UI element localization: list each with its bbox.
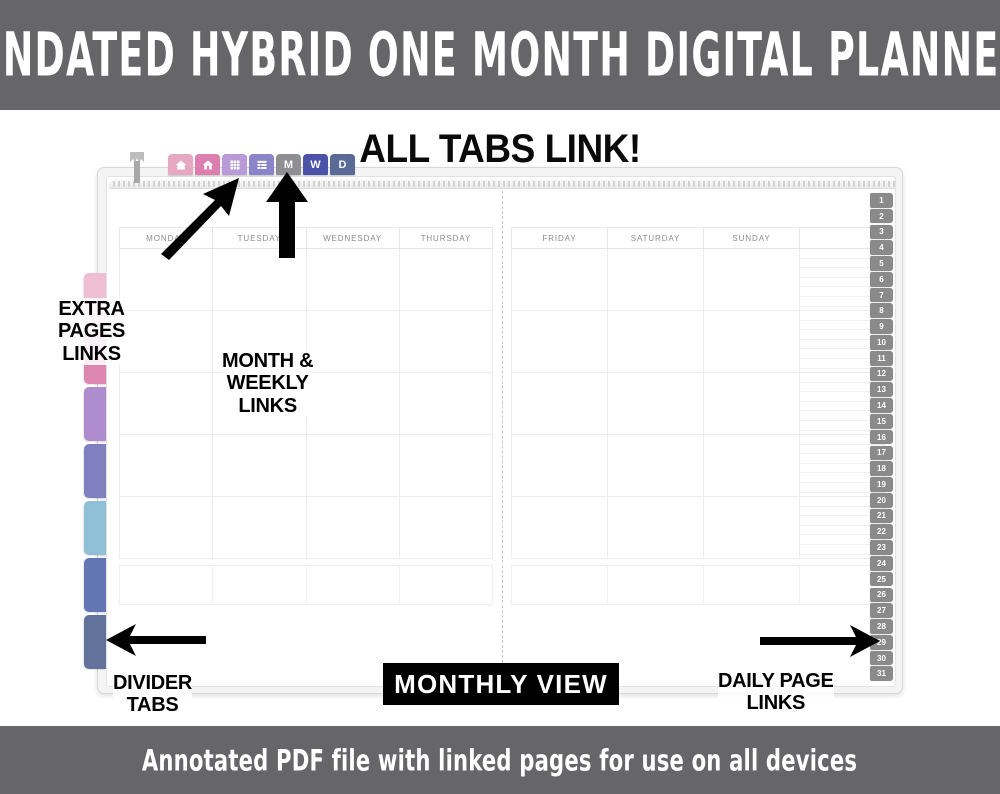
day-tab-17[interactable]: 17 xyxy=(870,446,893,461)
day-tab-26[interactable]: 26 xyxy=(870,588,893,603)
binding-notch xyxy=(323,181,325,187)
binding-notch xyxy=(123,181,125,187)
divider-tab-3[interactable] xyxy=(84,387,106,441)
anno-line: DAILY PAGE xyxy=(718,670,834,692)
binding-notch xyxy=(728,181,730,187)
annotation-daily-page-links: DAILY PAGE LINKS xyxy=(718,670,834,715)
binding-notch xyxy=(418,181,420,187)
calendar-day-cell[interactable] xyxy=(399,373,493,435)
bottom-cell[interactable] xyxy=(212,565,305,605)
binding-notch xyxy=(538,181,540,187)
day-tab-13[interactable]: 13 xyxy=(870,382,893,397)
binding-notch xyxy=(618,181,620,187)
binding-notch xyxy=(343,181,345,187)
binding-notch xyxy=(548,181,550,187)
day-tab-4[interactable]: 4 xyxy=(870,240,893,255)
calendar-day-cell[interactable] xyxy=(119,311,212,373)
calendar-week-row xyxy=(511,249,885,311)
binding-notch xyxy=(608,181,610,187)
binding-notch xyxy=(668,181,670,187)
calendar-week-row xyxy=(511,311,885,373)
anno-line: EXTRA xyxy=(58,298,125,320)
binding-notch xyxy=(518,181,520,187)
headline-all-tabs-link: ALL TABS LINK! xyxy=(0,126,1000,171)
day-tab-18[interactable]: 18 xyxy=(870,461,893,476)
binding-notch xyxy=(433,181,435,187)
binding-notch xyxy=(748,181,750,187)
day-tab-20[interactable]: 20 xyxy=(870,493,893,508)
weekday-header-friday: FRIDAY xyxy=(511,227,607,249)
binding-notch xyxy=(348,181,350,187)
binding-notch xyxy=(718,181,720,187)
calendar-day-cell[interactable] xyxy=(607,311,703,373)
binding-notch xyxy=(693,181,695,187)
binding-notch xyxy=(858,181,860,187)
anno-line: TABS xyxy=(113,694,192,716)
binding-notch xyxy=(818,181,820,187)
binding-notch xyxy=(833,181,835,187)
weekday-header-sunday: SUNDAY xyxy=(703,227,799,249)
binding-notch xyxy=(733,181,735,187)
day-tab-1[interactable]: 1 xyxy=(870,193,893,208)
binding-notch xyxy=(578,181,580,187)
top-tab-home-alt[interactable] xyxy=(195,154,220,175)
monthly-view-label: MONTHLY VIEW xyxy=(394,669,608,700)
calendar-week-row xyxy=(511,435,885,497)
binding-notch xyxy=(648,181,650,187)
monthly-view-badge: MONTHLY VIEW xyxy=(383,663,619,705)
binding-notch xyxy=(573,181,575,187)
binding-notch xyxy=(148,181,150,187)
calendar-day-cell[interactable] xyxy=(119,497,212,559)
day-tab-24[interactable]: 24 xyxy=(870,556,893,571)
main-content-area: ALL TABS LINK! xyxy=(0,110,1000,726)
binding-notch xyxy=(828,181,830,187)
day-tab-3[interactable]: 3 xyxy=(870,225,893,240)
day-tab-15[interactable]: 15 xyxy=(870,414,893,429)
bottom-strip-left[interactable] xyxy=(119,565,493,605)
binding-notch xyxy=(583,181,585,187)
binding-notch xyxy=(678,181,680,187)
binding-notch xyxy=(763,181,765,187)
calendar-day-cell[interactable] xyxy=(607,435,703,497)
binding-notch xyxy=(553,181,555,187)
annotation-month-weekly-links: MONTH & WEEKLY LINKS xyxy=(222,350,313,417)
calendar-day-cell[interactable] xyxy=(306,311,399,373)
binding-notch xyxy=(783,181,785,187)
bookmark-clip-icon xyxy=(126,152,148,184)
day-tab-23[interactable]: 23 xyxy=(870,540,893,555)
binding-notch xyxy=(888,181,890,187)
binding-notch xyxy=(653,181,655,187)
anno-line: LINKS xyxy=(58,343,125,365)
divider-tab-6[interactable] xyxy=(84,558,106,612)
binding-notch xyxy=(613,181,615,187)
calendar-day-cell[interactable] xyxy=(306,249,399,311)
binding-notch xyxy=(473,181,475,187)
binding-notch xyxy=(788,181,790,187)
binding-notch xyxy=(698,181,700,187)
calendar-day-cell[interactable] xyxy=(511,249,607,311)
calendar-day-cell[interactable] xyxy=(511,435,607,497)
anno-line: PAGES xyxy=(58,320,125,342)
binding-notch xyxy=(398,181,400,187)
binding-notch xyxy=(738,181,740,187)
calendar-day-cell[interactable] xyxy=(607,373,703,435)
binding-notch xyxy=(393,181,395,187)
calendar-day-cell[interactable] xyxy=(703,373,799,435)
bottom-cell[interactable] xyxy=(607,565,703,605)
calendar-day-cell[interactable] xyxy=(306,497,399,559)
top-tab-row[interactable]: M W D xyxy=(168,154,355,176)
page-gutter xyxy=(493,191,511,678)
bottom-cell[interactable] xyxy=(119,565,212,605)
binding-notch xyxy=(313,181,315,187)
binding-notch xyxy=(868,181,870,187)
binding-notch xyxy=(438,181,440,187)
binding-notch xyxy=(453,181,455,187)
binding-notch xyxy=(673,181,675,187)
binding-notch xyxy=(778,181,780,187)
binding-notch xyxy=(633,181,635,187)
binding-notch xyxy=(593,181,595,187)
weekday-header-wednesday: WEDNESDAY xyxy=(306,227,399,249)
calendar-day-cell[interactable] xyxy=(607,249,703,311)
binding-notch xyxy=(703,181,705,187)
bottom-banner: Annotated PDF file with linked pages for… xyxy=(0,726,1000,794)
binding-notch xyxy=(768,181,770,187)
calendar-day-cell[interactable] xyxy=(607,497,703,559)
day-tab-27[interactable]: 27 xyxy=(870,603,893,618)
calendar-day-cell[interactable] xyxy=(511,373,607,435)
bottom-cell[interactable] xyxy=(306,565,399,605)
binding-notch xyxy=(873,181,875,187)
divider-tab-7[interactable] xyxy=(84,615,106,669)
binding-notch xyxy=(598,181,600,187)
binding-notch xyxy=(368,181,370,187)
binding-notch xyxy=(353,181,355,187)
binding-notch xyxy=(253,181,255,187)
weekday-header-saturday: SATURDAY xyxy=(607,227,703,249)
day-tab-5[interactable]: 5 xyxy=(870,256,893,271)
binding-notch xyxy=(358,181,360,187)
day-tab-10[interactable]: 10 xyxy=(870,335,893,350)
anno-line: LINKS xyxy=(222,395,313,417)
calendar-day-cell[interactable] xyxy=(511,311,607,373)
anno-line: LINKS xyxy=(718,692,834,714)
anno-line: WEEKLY xyxy=(222,372,313,394)
binding-notch xyxy=(493,181,495,187)
binding-notch xyxy=(568,181,570,187)
binding-notch xyxy=(463,181,465,187)
binding-notch xyxy=(798,181,800,187)
binding-notch xyxy=(428,181,430,187)
binding-notch xyxy=(688,181,690,187)
binding-notch xyxy=(503,181,505,187)
binding-notch xyxy=(533,181,535,187)
day-tab-11[interactable]: 11 xyxy=(870,351,893,366)
binding-notch xyxy=(758,181,760,187)
binding-notch xyxy=(333,181,335,187)
divider-tab-5[interactable] xyxy=(84,501,106,555)
binding-notch xyxy=(843,181,845,187)
binding-notch xyxy=(318,181,320,187)
arrow-month-weekly-icon xyxy=(264,172,310,258)
binding-notch xyxy=(753,181,755,187)
bottom-cell[interactable] xyxy=(703,565,799,605)
calendar-day-cell[interactable] xyxy=(212,435,305,497)
annotation-extra-pages-links: EXTRA PAGES LINKS xyxy=(58,298,125,365)
day-tab-6[interactable]: 6 xyxy=(870,272,893,287)
day-tab-19[interactable]: 19 xyxy=(870,477,893,492)
binding-notch xyxy=(258,181,260,187)
product-title: UNDATED HYBRID ONE MONTH DIGITAL PLANNER xyxy=(0,20,1000,90)
binding-notch xyxy=(478,181,480,187)
binding-notch xyxy=(808,181,810,187)
binding-notch xyxy=(683,181,685,187)
binding-notch xyxy=(603,181,605,187)
list-grid-icon xyxy=(256,159,268,171)
day-tab-8[interactable]: 8 xyxy=(870,303,893,318)
grid-icon xyxy=(229,159,241,171)
binding-notch xyxy=(408,181,410,187)
binding-notch xyxy=(378,181,380,187)
binding-notch xyxy=(363,181,365,187)
daily-page-tab-column[interactable]: 1234567891011121314151617181920212223242… xyxy=(870,193,893,682)
binding-notch xyxy=(513,181,515,187)
binding-notch xyxy=(423,181,425,187)
calendar-day-cell[interactable] xyxy=(399,497,493,559)
binding-notch xyxy=(248,181,250,187)
arrow-daily-page-icon xyxy=(760,623,880,659)
binding-notch xyxy=(458,181,460,187)
binding-notch xyxy=(863,181,865,187)
day-tab-2[interactable]: 2 xyxy=(870,209,893,224)
bottom-cell[interactable] xyxy=(399,565,493,605)
binding-notch xyxy=(448,181,450,187)
binding-notch xyxy=(373,181,375,187)
calendar-day-cell[interactable] xyxy=(703,311,799,373)
binding-notch xyxy=(563,181,565,187)
day-tab-16[interactable]: 16 xyxy=(870,430,893,445)
binding-notch xyxy=(543,181,545,187)
top-tab-day[interactable]: D xyxy=(330,154,355,175)
bottom-cell[interactable] xyxy=(511,565,607,605)
binding-notch xyxy=(743,181,745,187)
calendar-day-cell[interactable] xyxy=(511,497,607,559)
page-spread: MONDAYTUESDAYWEDNESDAYTHURSDAY F xyxy=(119,191,885,678)
binding-notch xyxy=(793,181,795,187)
anno-line: MONTH & xyxy=(222,350,313,372)
binding-notch xyxy=(118,181,120,187)
binding-notch xyxy=(723,181,725,187)
home-alt-icon xyxy=(202,159,214,171)
anno-line: DIVIDER xyxy=(113,672,192,694)
binding-notch xyxy=(853,181,855,187)
binding-notch xyxy=(403,181,405,187)
binding-notch xyxy=(848,181,850,187)
binding-notch xyxy=(558,181,560,187)
binding-notch xyxy=(838,181,840,187)
binding-notch xyxy=(488,181,490,187)
bottom-banner-caption: Annotated PDF file with linked pages for… xyxy=(142,743,857,777)
right-page: FRIDAYSATURDAYSUNDAY xyxy=(511,191,885,678)
day-tab-22[interactable]: 22 xyxy=(870,524,893,539)
left-page: MONDAYTUESDAYWEDNESDAYTHURSDAY xyxy=(119,191,493,678)
binding-notch xyxy=(638,181,640,187)
binding-notch xyxy=(483,181,485,187)
day-tab-21[interactable]: 21 xyxy=(870,509,893,524)
binding-notch xyxy=(468,181,470,187)
divider-tab-4[interactable] xyxy=(84,444,106,498)
binding-notch xyxy=(528,181,530,187)
binding-notch xyxy=(893,181,895,187)
weekday-header-right: FRIDAYSATURDAYSUNDAY xyxy=(511,227,885,249)
weekday-header-thursday: THURSDAY xyxy=(399,227,493,249)
letter-m-icon: M xyxy=(284,159,293,171)
day-tab-14[interactable]: 14 xyxy=(870,398,893,413)
calendar-day-cell[interactable] xyxy=(212,497,305,559)
calendar-week-row xyxy=(511,497,885,559)
binding-notch xyxy=(658,181,660,187)
calendar-day-cell[interactable] xyxy=(306,435,399,497)
letter-d-icon: D xyxy=(339,159,347,171)
binding-notch xyxy=(498,181,500,187)
binding-notch xyxy=(113,181,115,187)
binding-notch xyxy=(588,181,590,187)
calendar-week-row xyxy=(119,435,493,497)
binding-notch xyxy=(883,181,885,187)
day-tab-12[interactable]: 12 xyxy=(870,367,893,382)
binding-notch xyxy=(508,181,510,187)
screenshot-root: UNDATED HYBRID ONE MONTH DIGITAL PLANNER… xyxy=(0,0,1000,794)
binding-notch xyxy=(773,181,775,187)
calendar-day-cell[interactable] xyxy=(703,249,799,311)
binding-notch xyxy=(713,181,715,187)
binding-notch xyxy=(823,181,825,187)
binding-notch xyxy=(328,181,330,187)
bottom-strip-right[interactable] xyxy=(511,565,885,605)
binding-notch xyxy=(388,181,390,187)
calendar-day-cell[interactable] xyxy=(703,435,799,497)
binding-notch xyxy=(383,181,385,187)
day-tab-31[interactable]: 31 xyxy=(870,666,893,681)
top-banner: UNDATED HYBRID ONE MONTH DIGITAL PLANNER xyxy=(0,0,1000,110)
binding-notch xyxy=(663,181,665,187)
day-tab-25[interactable]: 25 xyxy=(870,572,893,587)
arrow-extra-pages-icon xyxy=(155,176,245,260)
binding-notch xyxy=(628,181,630,187)
day-tab-7[interactable]: 7 xyxy=(870,288,893,303)
binding-notch xyxy=(338,181,340,187)
binding-notch xyxy=(803,181,805,187)
binding-notch xyxy=(643,181,645,187)
calendar-day-cell[interactable] xyxy=(399,249,493,311)
calendar-day-cell[interactable] xyxy=(399,311,493,373)
binding-notch xyxy=(813,181,815,187)
binding-notch xyxy=(623,181,625,187)
calendar-day-cell[interactable] xyxy=(306,373,399,435)
calendar-day-cell[interactable] xyxy=(119,435,212,497)
top-tab-home[interactable] xyxy=(168,154,193,175)
arrow-divider-tabs-icon xyxy=(106,622,206,658)
top-tab-monthly-grid[interactable] xyxy=(222,154,247,175)
calendar-week-row xyxy=(119,497,493,559)
binding-notch xyxy=(878,181,880,187)
binding-notch xyxy=(413,181,415,187)
letter-w-icon: W xyxy=(310,159,320,171)
annotation-divider-tabs: DIVIDER TABS xyxy=(113,672,192,717)
calendar-day-cell[interactable] xyxy=(119,373,212,435)
binding-notch xyxy=(708,181,710,187)
binding-notch xyxy=(443,181,445,187)
calendar-body-right[interactable] xyxy=(511,249,885,559)
binding-notch xyxy=(523,181,525,187)
home-icon xyxy=(175,159,187,171)
calendar-day-cell[interactable] xyxy=(399,435,493,497)
calendar-week-row xyxy=(511,373,885,435)
day-tab-9[interactable]: 9 xyxy=(870,319,893,334)
calendar-day-cell[interactable] xyxy=(703,497,799,559)
